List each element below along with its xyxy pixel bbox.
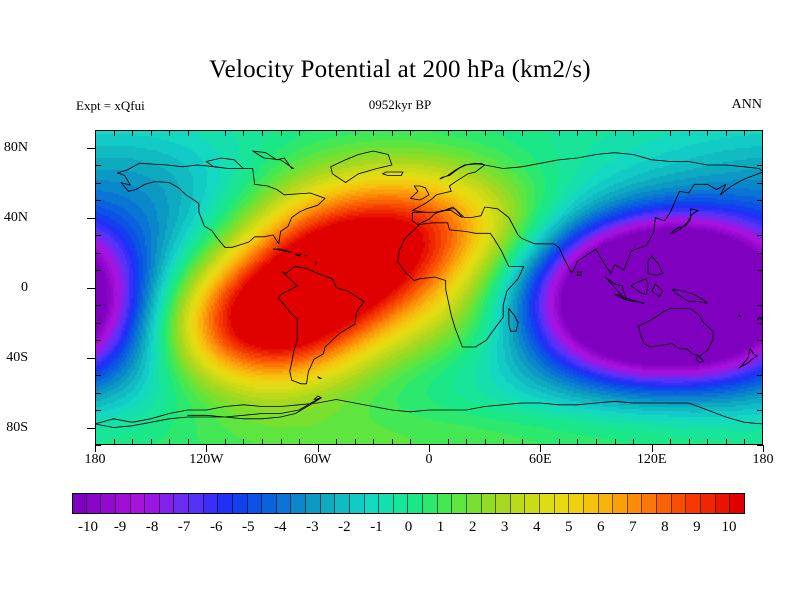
colorbar-tick-label: -7 xyxy=(178,519,191,536)
colorbar-swatch xyxy=(628,493,643,514)
latitude-minor-tick xyxy=(757,200,763,201)
colorbar-swatch xyxy=(365,493,380,514)
latitude-minor-tick xyxy=(757,253,763,254)
longitude-minor-tick xyxy=(448,130,449,136)
colorbar-swatch xyxy=(452,493,467,514)
longitude-minor-tick xyxy=(485,439,486,445)
longitude-minor-tick xyxy=(114,439,115,445)
longitude-minor-tick xyxy=(169,439,170,445)
longitude-minor-tick xyxy=(114,130,115,136)
latitude-minor-tick xyxy=(757,375,763,376)
colorbar-swatches xyxy=(72,493,745,514)
longitude-minor-tick xyxy=(392,130,393,136)
colorbar-swatch xyxy=(218,493,233,514)
longitude-minor-tick xyxy=(670,130,671,136)
colorbar-swatch xyxy=(642,493,657,514)
latitude-minor-tick xyxy=(757,323,763,324)
longitude-tick-label: 180 xyxy=(753,452,774,468)
colorbar-tick-label: -9 xyxy=(114,519,127,536)
colorbar-swatch xyxy=(291,493,306,514)
longitude-minor-tick xyxy=(689,130,690,136)
colorbar-swatch xyxy=(555,493,570,514)
longitude-tick-label: 0 xyxy=(426,452,433,468)
latitude-minor-tick xyxy=(95,410,101,411)
longitude-minor-tick xyxy=(225,439,226,445)
colorbar-swatch xyxy=(423,493,438,514)
colorbar-tick-label: 10 xyxy=(721,519,736,536)
colorbar-swatch xyxy=(174,493,189,514)
colorbar-swatch xyxy=(189,493,204,514)
latitude-minor-tick xyxy=(95,130,101,131)
colorbar-swatch xyxy=(584,493,599,514)
colorbar-swatch xyxy=(248,493,263,514)
longitude-minor-tick xyxy=(744,439,745,445)
colorbar-swatch xyxy=(277,493,292,514)
colorbar-tick-label: 2 xyxy=(469,519,477,536)
colorbar-tick-label: -6 xyxy=(210,519,223,536)
page-title: Velocity Potential at 200 hPa (km2/s) xyxy=(0,56,800,84)
longitude-minor-tick xyxy=(410,439,411,445)
latitude-tick-label: 40S xyxy=(6,350,28,366)
latitude-minor-tick xyxy=(95,235,101,236)
colorbar-tick-label: -1 xyxy=(370,519,383,536)
colorbar-tick-label: -10 xyxy=(78,519,98,536)
latitude-minor-tick xyxy=(757,340,763,341)
colorbar-tick-label: 8 xyxy=(661,519,669,536)
latitude-minor-tick xyxy=(95,393,101,394)
longitude-tick-label: 60W xyxy=(304,452,331,468)
longitude-minor-tick xyxy=(448,439,449,445)
velocity-potential-figure: Velocity Potential at 200 hPa (km2/s) 09… xyxy=(0,0,800,600)
longitude-minor-tick xyxy=(577,439,578,445)
colorbar-tick-label: 9 xyxy=(693,519,701,536)
latitude-tick xyxy=(87,148,95,149)
colorbar[interactable] xyxy=(72,493,745,514)
latitude-tick xyxy=(87,218,95,219)
latitude-tick-label: 80N xyxy=(4,140,28,156)
latitude-tick-label: 80S xyxy=(6,420,28,436)
colorbar-tick-label: 1 xyxy=(437,519,445,536)
map-plot-area xyxy=(95,130,763,445)
longitude-minor-tick xyxy=(281,130,282,136)
latitude-tick xyxy=(87,288,95,289)
longitude-tick xyxy=(652,445,653,452)
colorbar-swatch xyxy=(613,493,628,514)
velocity-potential-contour-field xyxy=(95,130,763,445)
longitude-minor-tick xyxy=(615,130,616,136)
experiment-label: Expt = xQfui xyxy=(76,98,145,114)
longitude-tick-label: 120E xyxy=(637,452,667,468)
colorbar-tick-label: 5 xyxy=(565,519,573,536)
longitude-minor-tick xyxy=(522,130,523,136)
longitude-minor-tick xyxy=(188,130,189,136)
colorbar-swatch xyxy=(394,493,409,514)
colorbar-swatch xyxy=(72,493,87,514)
longitude-minor-tick xyxy=(615,439,616,445)
colorbar-swatch xyxy=(599,493,614,514)
colorbar-swatch xyxy=(233,493,248,514)
colorbar-tick-label: -2 xyxy=(338,519,351,536)
longitude-minor-tick xyxy=(503,439,504,445)
colorbar-swatch xyxy=(306,493,321,514)
longitude-tick-label: 180 xyxy=(85,452,106,468)
latitude-minor-tick xyxy=(757,130,763,131)
longitude-minor-tick xyxy=(577,130,578,136)
longitude-minor-tick xyxy=(299,439,300,445)
colorbar-swatch xyxy=(350,493,365,514)
longitude-minor-tick xyxy=(744,130,745,136)
longitude-tick xyxy=(540,445,541,452)
colorbar-swatch xyxy=(482,493,497,514)
longitude-minor-tick xyxy=(243,439,244,445)
longitude-minor-tick xyxy=(559,439,560,445)
longitude-tick xyxy=(206,445,207,452)
longitude-minor-tick xyxy=(151,439,152,445)
latitude-minor-tick xyxy=(757,235,763,236)
colorbar-tick-label: 6 xyxy=(597,519,605,536)
latitude-minor-tick xyxy=(757,393,763,394)
longitude-minor-tick xyxy=(132,130,133,136)
latitude-tick-label: 40N xyxy=(4,210,28,226)
colorbar-swatch xyxy=(438,493,453,514)
colorbar-swatch xyxy=(131,493,146,514)
longitude-minor-tick xyxy=(559,130,560,136)
longitude-tick xyxy=(318,445,319,452)
latitude-minor-tick xyxy=(95,323,101,324)
longitude-minor-tick xyxy=(188,439,189,445)
colorbar-tick-label: 3 xyxy=(501,519,509,536)
latitude-minor-tick xyxy=(95,375,101,376)
longitude-minor-tick xyxy=(355,439,356,445)
longitude-minor-tick xyxy=(726,130,727,136)
longitude-minor-tick xyxy=(225,130,226,136)
longitude-minor-tick xyxy=(633,439,634,445)
longitude-minor-tick xyxy=(336,130,337,136)
colorbar-swatch xyxy=(657,493,672,514)
latitude-minor-tick xyxy=(757,270,763,271)
colorbar-swatch xyxy=(379,493,394,514)
colorbar-swatch xyxy=(496,493,511,514)
colorbar-swatch xyxy=(569,493,584,514)
longitude-minor-tick xyxy=(485,130,486,136)
colorbar-swatch xyxy=(321,493,336,514)
latitude-minor-tick xyxy=(95,200,101,201)
longitude-minor-tick xyxy=(466,130,467,136)
longitude-minor-tick xyxy=(689,439,690,445)
latitude-tick xyxy=(87,358,95,359)
longitude-tick xyxy=(763,445,764,452)
colorbar-tick-label: 4 xyxy=(533,519,541,536)
colorbar-swatch xyxy=(540,493,555,514)
longitude-minor-tick xyxy=(355,130,356,136)
season-label: ANN xyxy=(732,97,762,113)
colorbar-swatch xyxy=(116,493,131,514)
longitude-minor-tick xyxy=(262,439,263,445)
colorbar-swatch xyxy=(262,493,277,514)
longitude-minor-tick xyxy=(503,130,504,136)
longitude-minor-tick xyxy=(392,439,393,445)
colorbar-tick-label: -5 xyxy=(242,519,255,536)
latitude-minor-tick xyxy=(757,165,763,166)
colorbar-swatch xyxy=(686,493,701,514)
latitude-minor-tick xyxy=(95,270,101,271)
latitude-minor-tick xyxy=(95,183,101,184)
longitude-minor-tick xyxy=(596,439,597,445)
latitude-minor-tick xyxy=(95,340,101,341)
longitude-tick xyxy=(429,445,430,452)
longitude-minor-tick xyxy=(522,439,523,445)
colorbar-swatch xyxy=(672,493,687,514)
colorbar-swatch xyxy=(716,493,731,514)
latitude-tick xyxy=(87,428,95,429)
colorbar-tick-label: -3 xyxy=(306,519,319,536)
longitude-minor-tick xyxy=(707,439,708,445)
colorbar-tick-label: -4 xyxy=(274,519,287,536)
longitude-minor-tick xyxy=(132,439,133,445)
longitude-minor-tick xyxy=(169,130,170,136)
longitude-minor-tick xyxy=(410,130,411,136)
longitude-minor-tick xyxy=(243,130,244,136)
longitude-minor-tick xyxy=(466,439,467,445)
latitude-minor-tick xyxy=(95,253,101,254)
longitude-minor-tick xyxy=(670,439,671,445)
colorbar-swatch xyxy=(701,493,716,514)
longitude-tick-label: 120W xyxy=(189,452,223,468)
latitude-minor-tick xyxy=(95,305,101,306)
longitude-tick xyxy=(95,445,96,452)
longitude-minor-tick xyxy=(373,130,374,136)
colorbar-swatch xyxy=(204,493,219,514)
colorbar-tick-label: 0 xyxy=(405,519,413,536)
colorbar-swatch xyxy=(511,493,526,514)
colorbar-tick-label: 7 xyxy=(629,519,637,536)
longitude-minor-tick xyxy=(726,439,727,445)
longitude-tick-label: 60E xyxy=(529,452,552,468)
longitude-minor-tick xyxy=(281,439,282,445)
longitude-minor-tick xyxy=(336,439,337,445)
longitude-minor-tick xyxy=(596,130,597,136)
longitude-minor-tick xyxy=(633,130,634,136)
colorbar-swatch xyxy=(101,493,116,514)
colorbar-swatch xyxy=(145,493,160,514)
colorbar-swatch xyxy=(467,493,482,514)
colorbar-swatch xyxy=(87,493,102,514)
latitude-tick-label: 0 xyxy=(21,280,28,296)
colorbar-swatch xyxy=(160,493,175,514)
longitude-minor-tick xyxy=(262,130,263,136)
latitude-minor-tick xyxy=(757,305,763,306)
colorbar-swatch xyxy=(408,493,423,514)
latitude-minor-tick xyxy=(757,410,763,411)
longitude-minor-tick xyxy=(299,130,300,136)
colorbar-tick-label: -8 xyxy=(146,519,159,536)
colorbar-swatch xyxy=(335,493,350,514)
latitude-minor-tick xyxy=(757,183,763,184)
colorbar-swatch xyxy=(525,493,540,514)
latitude-minor-tick xyxy=(95,165,101,166)
colorbar-swatch xyxy=(730,493,745,514)
longitude-minor-tick xyxy=(707,130,708,136)
longitude-minor-tick xyxy=(151,130,152,136)
longitude-minor-tick xyxy=(373,439,374,445)
